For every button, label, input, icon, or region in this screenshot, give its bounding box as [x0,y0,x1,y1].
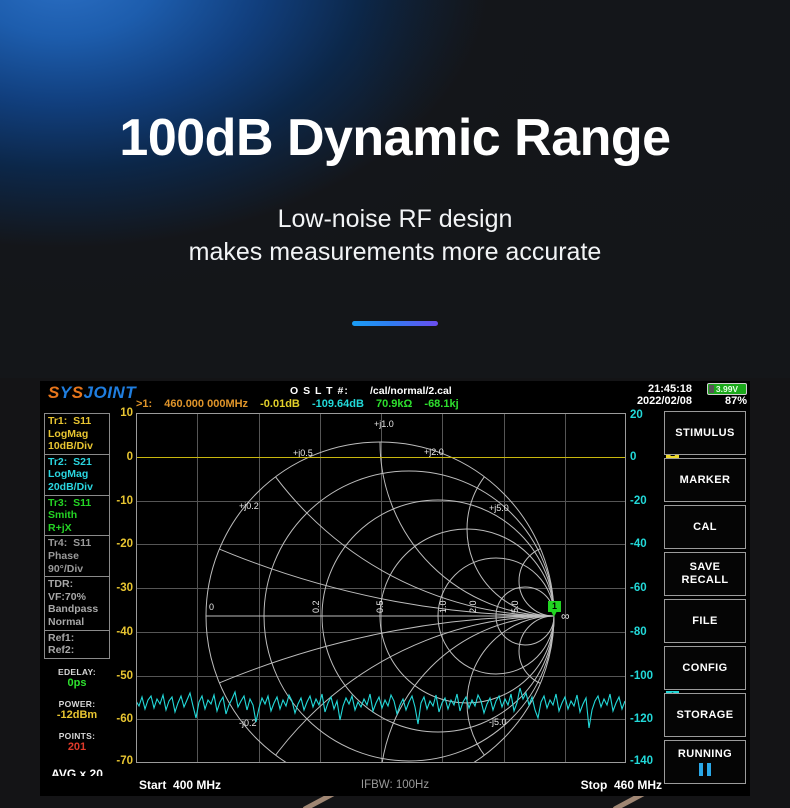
menu-button-running[interactable]: RUNNING [664,740,746,784]
trace-2-id: Tr2: [48,456,67,468]
vna-screen: SYSJOINT O S L T #: /cal/normal/2.cal 21… [40,381,750,796]
menu-button-config[interactable]: CONFIG [664,646,746,690]
trace-1-id: Tr1: [48,415,67,427]
menu-button-storage[interactable]: STORAGE [664,693,746,737]
trace-2-port: S21 [73,456,92,468]
subtitle-line-1: Low-noise RF design [0,205,790,234]
left-axis: 10 0 -10 -20 -30 -40 -50 -60 -70 [92,413,133,763]
marker-value-db1: -0.01dB [260,398,300,410]
chart-area[interactable]: 0 0.2 0.5 1.0 2.0 5.0 ∞ +j0.2 +j0.5 +j1.… [136,413,626,763]
cal-file-path: /cal/normal/2.cal [370,385,452,397]
cal-standards-label: O S L T #: [290,385,349,397]
marker-frequency: 460.000 000MHz [164,398,248,410]
pause-icon [699,763,711,776]
subtitle-line-2: makes measurements more accurate [0,238,790,267]
clock-time: 21:45:18 [648,383,692,395]
menu-button-marker[interactable]: MARKER [664,458,746,502]
brand-logo: SYSJOINT [48,384,136,401]
marker-reactance: -68.1kj [424,398,458,410]
clock-date: 2022/02/08 [637,395,692,407]
marker-value-db2: -109.64dB [312,398,364,410]
menu-button-save-recall[interactable]: SAVERECALL [664,552,746,596]
marker-1-green[interactable]: 1 [548,601,561,617]
trace-1-port: S11 [73,415,91,427]
battery-percent: 87% [725,395,747,407]
marker-resistance: 70.9kΩ [376,398,412,410]
menu-button-stimulus[interactable]: STIMULUS [664,411,746,455]
soft-key-menu: STIMULUS MARKER CAL SAVERECALL FILE CONF… [664,411,746,787]
trace-3-port: S11 [73,497,91,509]
marker-readout: >1: 460.000 000MHz -0.01dB -109.64dB 70.… [136,398,468,410]
hero-banner: 100dB Dynamic Range Low-noise RF design … [0,0,790,378]
menu-button-cal[interactable]: CAL [664,505,746,549]
sweep-status-bar: Start 400 MHz IFBW: 100Hz Stop 460 MHz [40,776,750,796]
device-photo: SYSJOINT O S L T #: /cal/normal/2.cal 21… [0,378,790,808]
trace-2-line [136,413,626,763]
sweep-stop: Stop 460 MHz [581,778,662,792]
page-title: 100dB Dynamic Range [0,108,790,168]
trace-4-port: S11 [73,537,91,549]
accent-divider [352,321,438,326]
trace-3-id: Tr3: [48,497,67,509]
marker-index: >1: [136,398,152,410]
battery-icon: 3.99V [707,383,747,395]
trace-4-id: Tr4: [48,537,67,549]
menu-button-file[interactable]: FILE [664,599,746,643]
